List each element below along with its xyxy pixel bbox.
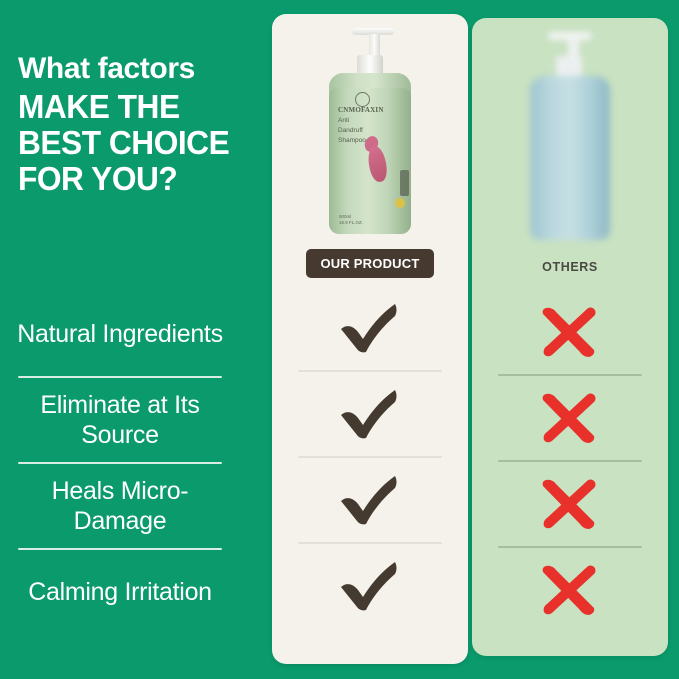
- left-text-column: What factors MAKE THE BEST CHOICE FOR YO…: [0, 0, 256, 679]
- mark-row: [272, 458, 468, 542]
- check-icon: [337, 474, 403, 526]
- others-product-image-area: [472, 18, 668, 244]
- feature-list: Natural Ingredients Eliminate at Its Sou…: [10, 292, 230, 634]
- mark-divider: [498, 374, 642, 376]
- feature-label: Calming Irritation: [28, 577, 212, 607]
- headline-line-2: MAKE THE: [18, 89, 246, 125]
- check-icon: [337, 388, 403, 440]
- feature-divider: [18, 548, 222, 550]
- mark-row: [472, 462, 668, 546]
- mark-row: [272, 544, 468, 628]
- mark-row: [472, 548, 668, 632]
- bottle-product-line-3: Shampoo: [338, 137, 402, 145]
- bottle-product-line-2: Dandruff: [338, 127, 402, 135]
- bottle-volume-oz: 16.9 FL.OZ.: [339, 220, 363, 226]
- brand-logo-icon: [355, 92, 370, 107]
- label-side-badge: [400, 170, 409, 196]
- feature-label: Heals Micro-Damage: [10, 476, 230, 536]
- feature-label: Eliminate at Its Source: [10, 390, 230, 450]
- feature-divider: [18, 462, 222, 464]
- check-icon: [337, 560, 403, 612]
- pump-neck: [568, 38, 579, 58]
- mark-row: [272, 372, 468, 456]
- competitor-bottle: [522, 30, 618, 242]
- flower-shape: [366, 145, 389, 183]
- mark-row: [472, 290, 668, 374]
- others-label: OTHERS: [542, 260, 598, 274]
- our-product-badge: OUR PRODUCT: [306, 249, 435, 278]
- bottle-label-text: CNMOFAXIN Anti Dandruff Shampoo: [338, 106, 402, 145]
- bottle-body: CNMOFAXIN Anti Dandruff Shampoo 500ml 16…: [329, 88, 411, 234]
- label-seal-icon: [395, 198, 405, 208]
- bottle-product-line-1: Anti: [338, 117, 402, 125]
- our-product-badge-zone: OUR PRODUCT: [272, 240, 468, 286]
- others-badge-zone: OTHERS: [472, 244, 668, 290]
- mark-divider: [498, 546, 642, 548]
- our-product-image-area: CNMOFAXIN Anti Dandruff Shampoo 500ml 16…: [272, 14, 468, 240]
- headline-line-3: BEST CHOICE: [18, 125, 246, 161]
- feature-row: Calming Irritation: [10, 550, 230, 634]
- headline-line-1: What factors: [18, 52, 256, 86]
- others-marks: [472, 290, 668, 632]
- cross-icon: [540, 392, 600, 444]
- pump-neck: [369, 34, 380, 56]
- others-panel: OTHERS: [472, 18, 668, 656]
- feature-row: Eliminate at Its Source: [10, 378, 230, 462]
- check-icon: [337, 302, 403, 354]
- mark-divider: [498, 460, 642, 462]
- feature-row: Natural Ingredients: [10, 292, 230, 376]
- mark-row: [472, 376, 668, 460]
- our-product-panel: CNMOFAXIN Anti Dandruff Shampoo 500ml 16…: [272, 14, 468, 664]
- feature-label: Natural Ingredients: [17, 319, 223, 349]
- cross-icon: [540, 478, 600, 530]
- feature-divider: [18, 376, 222, 378]
- cross-icon: [540, 306, 600, 358]
- mark-row: [272, 286, 468, 370]
- headline-line-4: FOR YOU?: [18, 161, 246, 197]
- comparison-infographic: What factors MAKE THE BEST CHOICE FOR YO…: [0, 0, 679, 679]
- bottle-volume: 500ml 16.9 FL.OZ.: [339, 214, 363, 226]
- page-title: What factors MAKE THE BEST CHOICE FOR YO…: [18, 52, 256, 197]
- our-product-bottle: CNMOFAXIN Anti Dandruff Shampoo 500ml 16…: [324, 28, 416, 234]
- cross-icon: [540, 564, 600, 616]
- feature-row: Heals Micro-Damage: [10, 464, 230, 548]
- pump-collar: [357, 55, 383, 75]
- bottle-body: [530, 76, 610, 240]
- bottle-brand-name: CNMOFAXIN: [338, 106, 402, 115]
- pump-collar: [556, 56, 582, 78]
- our-product-marks: [272, 286, 468, 628]
